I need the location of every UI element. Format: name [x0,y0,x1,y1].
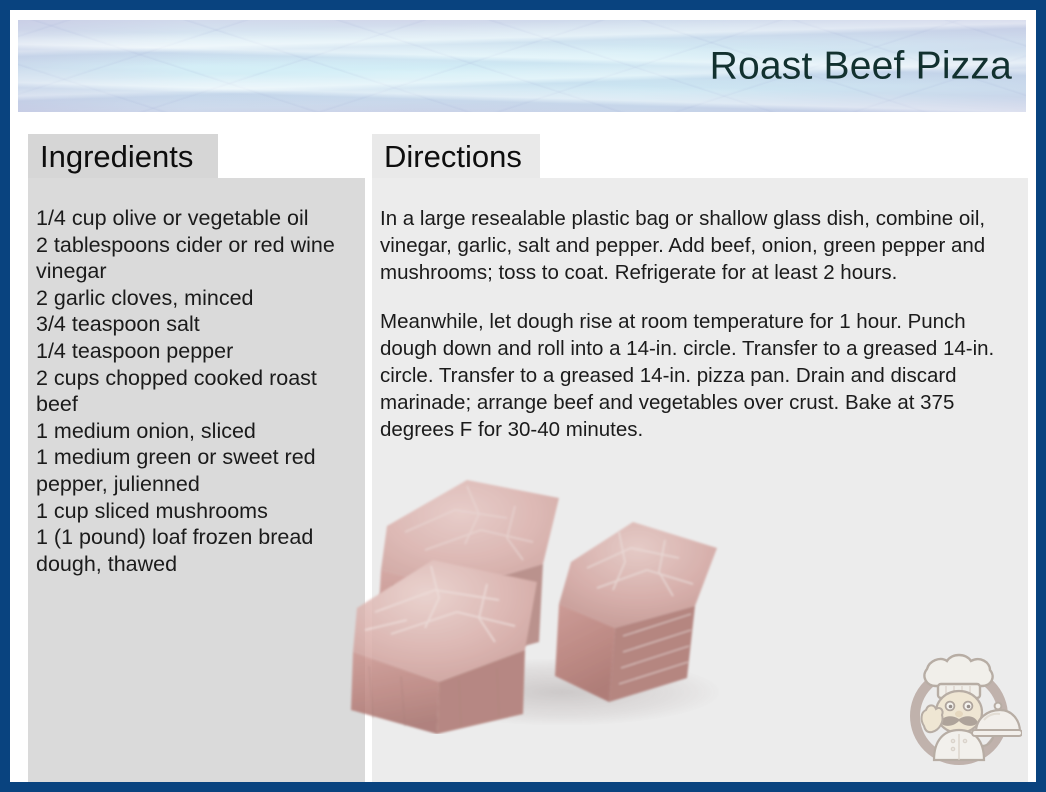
ingredient-list: 1/4 cup olive or vegetable oil 2 tablesp… [28,178,365,577]
slide-canvas: Roast Beef Pizza Ingredients 1/4 cup oli… [10,10,1036,782]
tab-directions-label: Directions [384,141,522,172]
list-item: 1 medium green or sweet red pepper, juli… [36,444,353,497]
list-item: 1/4 teaspoon pepper [36,338,353,365]
title-banner: Roast Beef Pizza [18,20,1026,112]
list-item: 2 tablespoons cider or red wine vinegar [36,232,353,285]
list-item: 2 cups chopped cooked roast beef [36,365,353,418]
tab-ingredients-label: Ingredients [40,141,193,172]
list-item: 1 cup sliced mushrooms [36,498,353,525]
page-title: Roast Beef Pizza [710,47,1012,86]
ingredients-panel: 1/4 cup olive or vegetable oil 2 tablesp… [28,178,365,782]
list-item: 1 (1 pound) loaf frozen bread dough, tha… [36,524,353,577]
list-item: 1/4 cup olive or vegetable oil [36,205,353,232]
tab-ingredients[interactable]: Ingredients [28,134,218,178]
tab-directions[interactable]: Directions [372,134,540,178]
chef-logo-icon [896,642,1022,768]
slide-frame: Roast Beef Pizza Ingredients 1/4 cup oli… [0,0,1046,792]
list-item: 1 medium onion, sliced [36,418,353,445]
list-item: 3/4 teaspoon salt [36,311,353,338]
beef-cubes-image [347,414,777,734]
directions-paragraph: In a large resealable plastic bag or sha… [380,205,1004,286]
directions-body: In a large resealable plastic bag or sha… [372,178,1028,443]
list-item: 2 garlic cloves, minced [36,285,353,312]
